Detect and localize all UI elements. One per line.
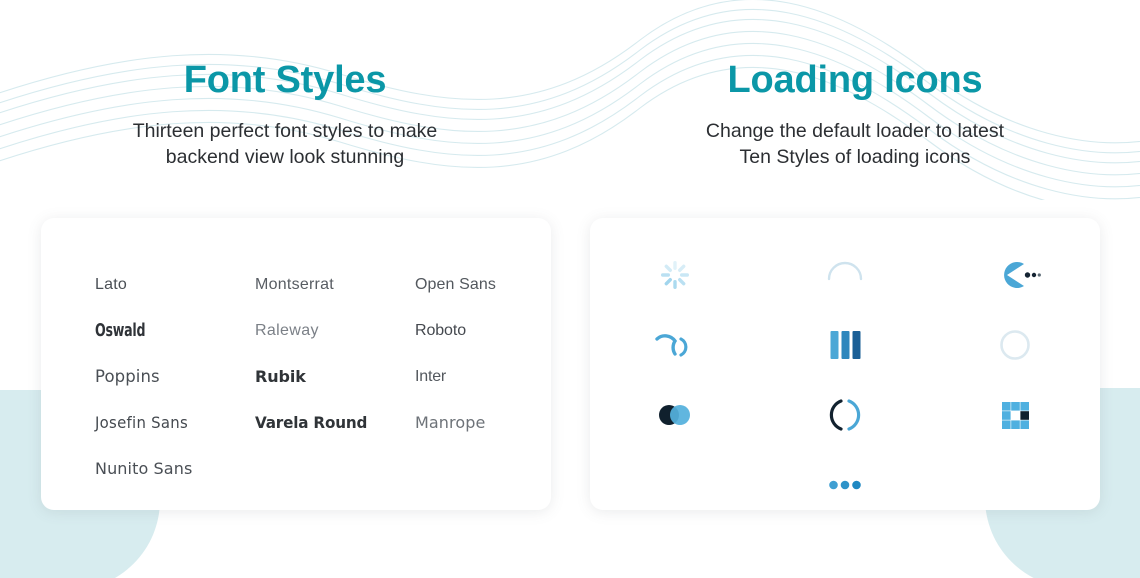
loader-cell-2[interactable] <box>760 240 930 310</box>
loader-cell-5[interactable] <box>760 310 930 380</box>
two-circles-icon[interactable] <box>648 388 702 442</box>
font-list-grid: Lato Oswald Poppins Josefin Sans Nunito … <box>95 262 525 492</box>
subtitle-line-1: Change the default loader to latest <box>706 120 1004 142</box>
loader-cell-7[interactable] <box>590 380 760 450</box>
loader-row-2 <box>590 310 1100 380</box>
font-item-montserrat[interactable]: Montserrat <box>255 262 415 308</box>
loader-cell-10[interactable] <box>760 450 930 520</box>
loader-row-1 <box>590 240 1100 310</box>
pacman-dots-icon[interactable] <box>988 248 1042 302</box>
loader-cell-3[interactable] <box>930 240 1100 310</box>
font-item-roboto[interactable]: Roboto <box>415 308 525 354</box>
font-item-oswald[interactable]: Oswald <box>95 308 223 354</box>
loader-icon-grid <box>590 240 1100 520</box>
bracket-arcs-icon[interactable] <box>818 388 872 442</box>
font-item-josefin-sans[interactable]: Josefin Sans <box>95 400 244 446</box>
loader-cell-6[interactable] <box>930 310 1100 380</box>
font-column-1: Lato Oswald Poppins Josefin Sans Nunito … <box>95 262 255 492</box>
page-title-loading-icons: Loading Icons <box>570 58 1140 103</box>
font-item-inter[interactable]: Inter <box>415 354 525 400</box>
font-item-rubik[interactable]: Rubik <box>255 354 415 400</box>
loader-cell-9[interactable] <box>930 380 1100 450</box>
three-dots-icon[interactable] <box>818 458 872 512</box>
font-column-2: Montserrat Raleway Rubik Varela Round <box>255 262 415 492</box>
font-item-open-sans[interactable]: Open Sans <box>415 262 525 308</box>
font-styles-header: Font Styles Thirteen perfect font styles… <box>0 0 570 171</box>
font-item-nunito-sans[interactable]: Nunito Sans <box>95 446 255 492</box>
panel-font-styles: Font Styles Thirteen perfect font styles… <box>0 0 570 578</box>
loading-icons-card <box>590 218 1100 510</box>
loader-cell-4[interactable] <box>590 310 760 380</box>
font-item-varela-round[interactable]: Varela Round <box>255 400 407 446</box>
loader-cell-8[interactable] <box>760 380 930 450</box>
font-item-poppins[interactable]: Poppins <box>95 354 255 400</box>
spinner-bars-icon[interactable] <box>648 248 702 302</box>
font-styles-card: Lato Oswald Poppins Josefin Sans Nunito … <box>41 218 551 510</box>
panel-loading-icons: Loading Icons Change the default loader … <box>570 0 1140 578</box>
font-column-3: Open Sans Roboto Inter Manrope <box>415 262 525 492</box>
grid-squares-icon[interactable] <box>988 388 1042 442</box>
loading-icons-subtitle: Change the default loader to latest Ten … <box>570 119 1140 171</box>
page-stage: Font Styles Thirteen perfect font styles… <box>0 0 1140 578</box>
font-item-raleway[interactable]: Raleway <box>255 308 415 354</box>
font-item-manrope[interactable]: Manrope <box>415 400 525 446</box>
loading-icons-header: Loading Icons Change the default loader … <box>570 0 1140 171</box>
three-bars-icon[interactable] <box>818 318 872 372</box>
subtitle-line-2: backend view look stunning <box>166 146 405 168</box>
loader-row-3 <box>590 380 1100 450</box>
loader-row-4 <box>590 450 1100 520</box>
loader-cell-1[interactable] <box>590 240 760 310</box>
arc-ring-icon[interactable] <box>818 248 872 302</box>
dual-arc-icon[interactable] <box>648 318 702 372</box>
page-title-font-styles: Font Styles <box>0 58 570 103</box>
light-ring-icon[interactable] <box>988 318 1042 372</box>
font-styles-subtitle: Thirteen perfect font styles to make bac… <box>0 119 570 171</box>
subtitle-line-2: Ten Styles of loading icons <box>740 146 971 168</box>
font-item-lato[interactable]: Lato <box>95 262 255 308</box>
subtitle-line-1: Thirteen perfect font styles to make <box>133 120 438 142</box>
